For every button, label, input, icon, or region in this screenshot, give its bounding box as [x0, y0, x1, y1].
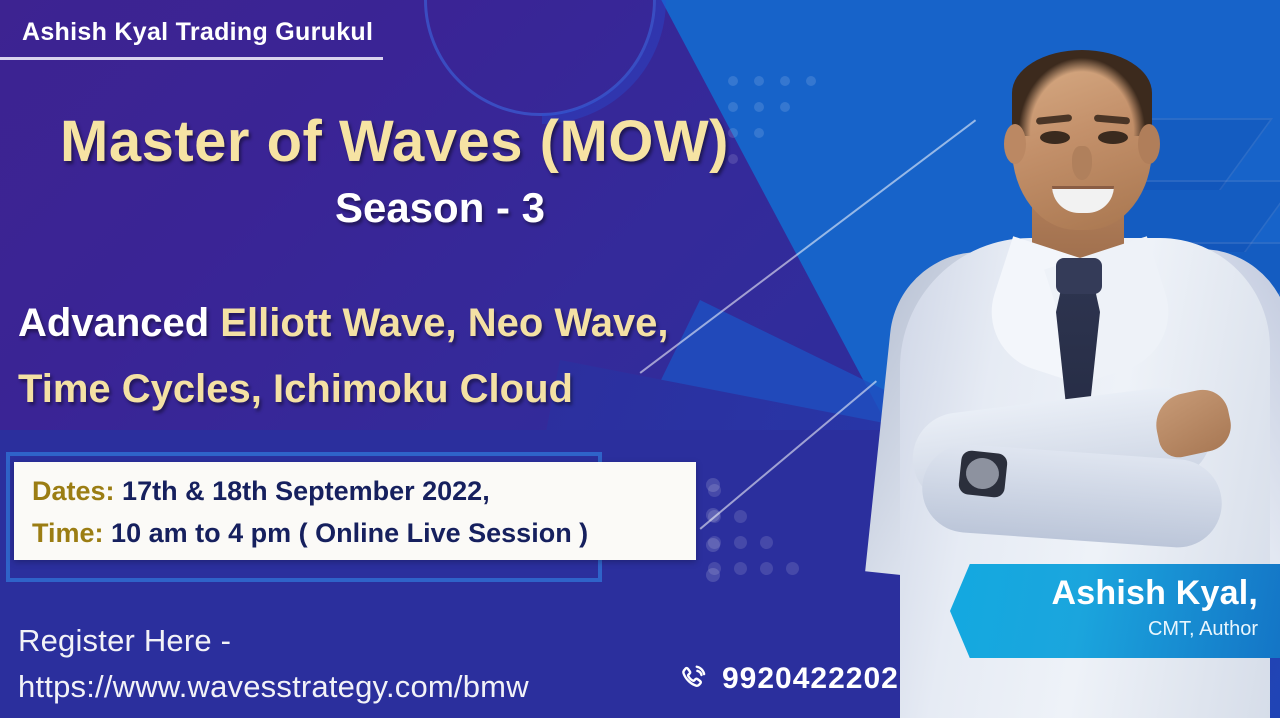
course-topics: Advanced Elliott Wave, Neo Wave, Time Cy… [18, 290, 818, 422]
decorative-dot-grid-bottom [708, 484, 848, 624]
season-subtitle: Season - 3 [60, 184, 820, 232]
portrait-eye-right [1098, 131, 1128, 144]
phone-number: 9920422202 [722, 662, 899, 696]
speaker-name: Ashish Kyal, [950, 570, 1258, 616]
topics-highlight-2: Time Cycles, Ichimoku Cloud [18, 367, 573, 411]
decorative-dot-column [706, 478, 726, 598]
portrait-hair [1012, 50, 1152, 136]
promo-banner: Ashish Kyal Trading Gurukul Master of Wa… [0, 0, 1280, 718]
decorative-circle-arc [418, 0, 666, 124]
dates-label: Dates: [32, 476, 115, 506]
schedule-info-box: Dates: 17th & 18th September 2022, Time:… [14, 462, 696, 560]
course-topics-line-2: Time Cycles, Ichimoku Cloud [18, 356, 818, 422]
portrait-tie-knot [1056, 258, 1102, 294]
dates-row: Dates: 17th & 18th September 2022, [32, 470, 696, 512]
contact-phone[interactable]: 9920422202 [678, 662, 899, 696]
topics-prefix: Advanced [18, 301, 220, 345]
topics-highlight-1: Elliott Wave, Neo Wave, [220, 301, 668, 345]
phone-call-icon [678, 664, 708, 694]
speaker-name-badge: Ashish Kyal, CMT, Author [950, 564, 1280, 658]
register-url[interactable]: https://www.wavesstrategy.com/bmw [18, 664, 529, 710]
decorative-circle-outline [424, 0, 656, 116]
time-row: Time: 10 am to 4 pm ( Online Live Sessio… [32, 512, 696, 554]
speaker-credentials: CMT, Author [950, 616, 1258, 642]
register-prompt: Register Here - [18, 623, 231, 658]
portrait-nose [1072, 146, 1092, 180]
dates-value: 17th & 18th September 2022, [122, 476, 490, 506]
page-title: Master of Waves (MOW) [60, 108, 820, 175]
brand-underline [0, 57, 383, 60]
portrait-ear-left [1004, 124, 1026, 164]
time-value: 10 am to 4 pm ( Online Live Session ) [111, 518, 588, 548]
brand-title: Ashish Kyal Trading Gurukul [22, 18, 373, 47]
course-topics-line-1: Advanced Elliott Wave, Neo Wave, [18, 290, 818, 356]
registration-block: Register Here - https://www.wavesstrateg… [18, 618, 529, 710]
portrait-ear-right [1138, 124, 1160, 164]
time-label: Time: [32, 518, 104, 548]
portrait-eye-left [1040, 131, 1070, 144]
